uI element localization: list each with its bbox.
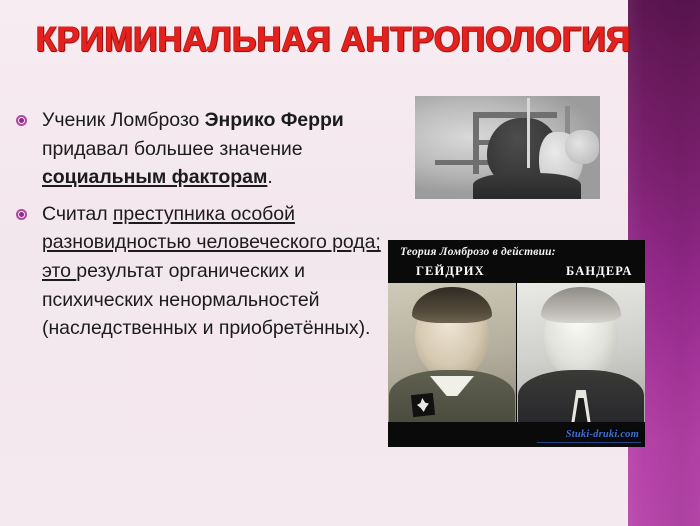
portrait-left-insignia xyxy=(411,393,435,417)
caliper-rod xyxy=(527,98,530,168)
subject-torso xyxy=(473,173,581,199)
bullet-list: Ученик Ломброзо Энрико Ферри придавал бо… xyxy=(14,106,389,351)
bullet-text-2: Считал преступника особой разновидностью… xyxy=(42,203,381,339)
bullet-1-segment-underlined: социальным факторам xyxy=(42,166,267,188)
bullet-1-segment-plain: Ученик Ломброзо xyxy=(42,109,205,131)
watermark-text: Stuki-druki.com xyxy=(566,429,639,440)
collage-name-right: БАНДЕРА xyxy=(566,264,633,279)
ring-bullet-icon xyxy=(16,209,27,220)
bullet-2-segment-plain-2: результат органических и психических нен… xyxy=(42,260,370,339)
portrait-right-hair xyxy=(541,287,621,323)
lombroso-comparison-collage: Теория Ломброзо в действии: ГЕЙДРИХ БАНД… xyxy=(388,240,645,447)
bullet-1-segment-period: . xyxy=(267,166,272,188)
list-item: Считал преступника особой разновидностью… xyxy=(14,200,389,343)
bullet-1-segment-plain-2: придавал большее значение xyxy=(42,138,303,160)
collage-caption: Теория Ломброзо в действии: xyxy=(400,246,556,258)
portrait-left-hair xyxy=(412,287,492,323)
watermark-rule xyxy=(537,442,641,443)
collage-name-left: ГЕЙДРИХ xyxy=(416,264,485,279)
examiner-hand xyxy=(565,130,599,164)
craniometry-photo xyxy=(415,96,600,199)
slide-title: КРИМИНАЛЬНАЯ АНТРОПОЛОГИЯ xyxy=(36,20,599,60)
list-item: Ученик Ломброзо Энрико Ферри придавал бо… xyxy=(14,106,389,192)
bullet-1-segment-bold-name: Энрико Ферри xyxy=(205,109,344,131)
portrait-left xyxy=(388,283,516,422)
frame-bar-top xyxy=(473,112,557,118)
ring-bullet-icon xyxy=(16,115,27,126)
presentation-slide: КРИМИНАЛЬНАЯ АНТРОПОЛОГИЯ Ученик Ломброз… xyxy=(0,0,700,526)
bullet-text-1: Ученик Ломброзо Энрико Ферри придавал бо… xyxy=(42,109,344,188)
portrait-right xyxy=(517,283,645,422)
bullet-2-segment-plain: Считал xyxy=(42,203,113,225)
